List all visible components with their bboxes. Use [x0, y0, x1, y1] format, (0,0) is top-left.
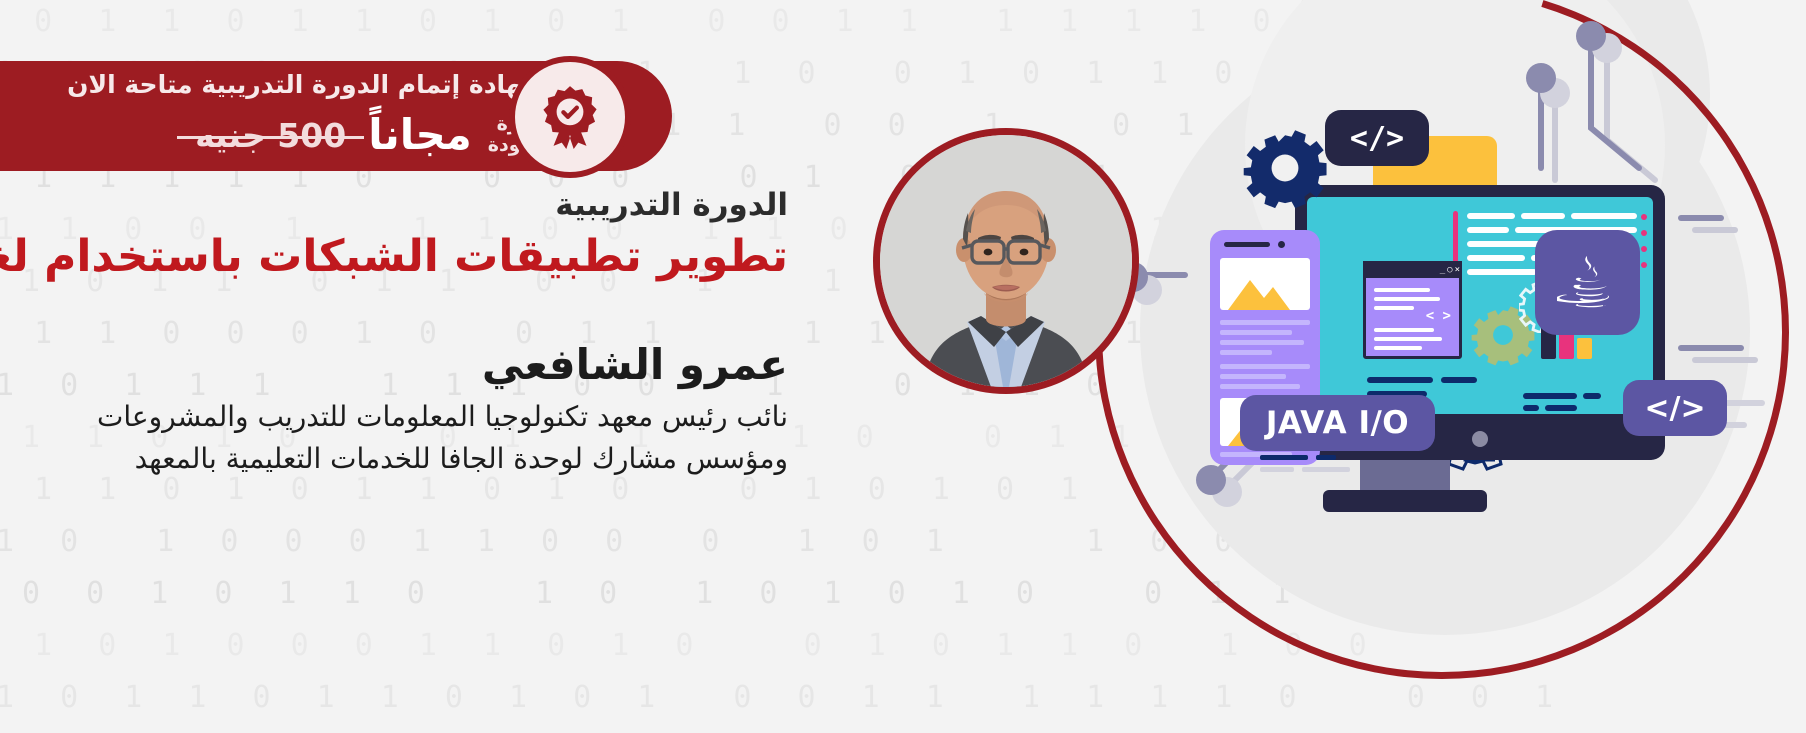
- screen-nav-line: [1441, 377, 1477, 383]
- promo-certificate-text: شهادة إتمام الدورة التدريبية متاحة الان: [77, 70, 547, 99]
- course-text-block: الدورة التدريبية تطوير تطبيقات الشبكات ب…: [28, 186, 788, 480]
- presenter-role-line2: ومؤسس مشارك لوحدة الجافا للخدمات التعليم…: [28, 438, 788, 480]
- screen-pink-dot: [1641, 262, 1647, 268]
- screen-code-line: [1467, 241, 1541, 247]
- java-coffee-cup-icon: [1557, 252, 1619, 314]
- badge-code-top: </>: [1325, 110, 1429, 166]
- presenter-name: عمرو الشافعي: [28, 340, 788, 390]
- phone-text-line: [1220, 374, 1286, 379]
- portrait-presenter: [880, 135, 1132, 387]
- phone-text-line: [1220, 384, 1300, 389]
- screen-nav-line: [1545, 405, 1577, 411]
- course-title: تطوير تطبيقات الشبكات باستخدام لغة الجاف…: [28, 231, 788, 284]
- phone-text-line: [1220, 364, 1310, 369]
- bar-yellow: [1577, 338, 1592, 359]
- illustration: ×○_ < >: [995, 0, 1806, 733]
- screen-code-line: [1467, 213, 1515, 219]
- screen-pink-dot: [1641, 246, 1647, 252]
- phone-image-placeholder: [1220, 258, 1310, 310]
- screen-pink-dot: [1641, 230, 1647, 236]
- award-ribbon-check-icon: [537, 84, 603, 150]
- phone-text-line: [1220, 340, 1304, 345]
- screen-pink-dot: [1641, 214, 1647, 220]
- editor-line: [1374, 337, 1442, 341]
- editor-line: [1374, 346, 1422, 350]
- phone-speaker: [1224, 242, 1270, 247]
- editor-line: [1374, 297, 1440, 301]
- image-mountain-icon: [1220, 258, 1310, 310]
- code-editor-window: ×○_ < >: [1363, 261, 1462, 359]
- gear-navy-icon: [1243, 126, 1327, 210]
- screen-code-line: [1521, 213, 1565, 219]
- screen-nav-line: [1583, 393, 1601, 399]
- editor-code-glyph: < >: [1426, 308, 1451, 324]
- screen-nav-line: [1523, 405, 1539, 411]
- badge-code-bottom: </>: [1623, 380, 1727, 436]
- banner-stage: 1 0 1 1 0 1 1 0 1 0 1 0 0 1 1 1 1 1 1 0 …: [0, 0, 1806, 733]
- badge-java-io: JAVA I/O: [1240, 395, 1435, 451]
- presenter-role-line1: نائب رئيس معهد تكنولوجيا المعلومات للتدر…: [28, 396, 788, 438]
- phone-text-line: [1220, 330, 1292, 335]
- screen-code-line: [1571, 213, 1637, 219]
- badge-java-logo: [1535, 230, 1640, 335]
- monitor-power-dot: [1472, 431, 1488, 447]
- phone-camera: [1278, 241, 1285, 248]
- original-price-struck: 500 جنيه: [189, 116, 352, 155]
- screen-nav-line: [1523, 393, 1577, 399]
- promo-price-row: لفترة محدودة مجاناً 500 جنيه: [67, 105, 557, 165]
- editor-line: [1374, 328, 1434, 332]
- certificate-seal-badge: [515, 62, 625, 172]
- phone-text-line: [1220, 320, 1310, 325]
- screen-code-line: [1467, 227, 1509, 233]
- avatar: [880, 135, 1132, 387]
- screen-nav-line: [1367, 377, 1433, 383]
- editor-line: [1374, 288, 1430, 292]
- free-label: مجاناً: [368, 114, 472, 156]
- screen-code-line: [1467, 255, 1525, 261]
- screen-code-line: [1467, 269, 1537, 275]
- editor-title-bar: ×○_: [1363, 261, 1462, 278]
- course-kicker: الدورة التدريبية: [28, 186, 788, 225]
- editor-line: [1374, 306, 1414, 310]
- phone-text-line: [1220, 350, 1272, 355]
